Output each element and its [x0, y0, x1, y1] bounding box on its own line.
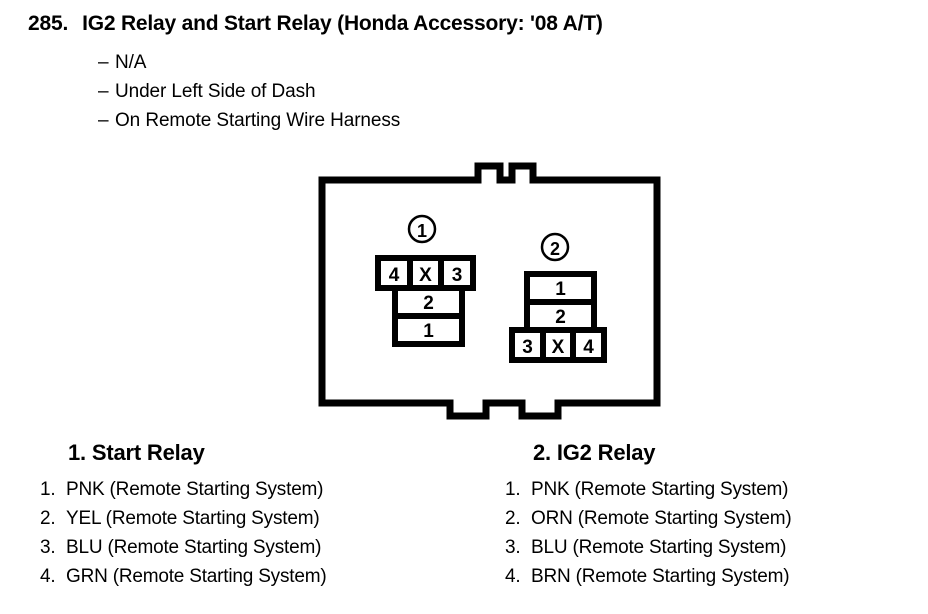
legend-row: 2. YEL (Remote Starting System) [40, 504, 480, 533]
dash-icon: – [98, 81, 115, 103]
relay1-pin-1: 1 [423, 321, 434, 342]
relay1-pin-x: X [419, 265, 432, 286]
enclosure-outline [322, 166, 657, 416]
legend-row-value: YEL (Remote Starting System) [66, 504, 319, 533]
dash-icon: – [98, 52, 115, 74]
legend-row: 3. BLU (Remote Starting System) [505, 533, 925, 562]
relay2-pin-1: 1 [555, 279, 566, 300]
callout-2-label: 2 [550, 239, 560, 259]
legend-row-value: BLU (Remote Starting System) [531, 533, 786, 562]
detail-line: –N/A [98, 52, 146, 74]
detail-text: On Remote Starting Wire Harness [115, 110, 400, 131]
legend-row-value: PNK (Remote Starting System) [66, 475, 323, 504]
relay1-pin-4: 4 [389, 265, 400, 286]
relay2-pin-x: X [552, 337, 565, 358]
legend-row-index: 2. [40, 504, 66, 533]
relay-2-connector: 2 1 2 3 X 4 [512, 234, 604, 360]
legend-row: 4. GRN (Remote Starting System) [40, 562, 480, 591]
legend-row: 4. BRN (Remote Starting System) [505, 562, 925, 591]
legend-row-index: 1. [505, 475, 531, 504]
legend-row-index: 4. [40, 562, 66, 591]
legend-row: 1. PNK (Remote Starting System) [505, 475, 925, 504]
legend-heading: 2. IG2 Relay [505, 440, 925, 466]
legend-row-value: ORN (Remote Starting System) [531, 504, 791, 533]
detail-line: –Under Left Side of Dash [98, 81, 316, 103]
legend-ig2-relay: 2. IG2 Relay 1. PNK (Remote Starting Sys… [505, 440, 925, 591]
detail-line: –On Remote Starting Wire Harness [98, 110, 400, 132]
legend-row-index: 3. [40, 533, 66, 562]
relay-location-diagram: 1 4 X 3 2 1 2 1 2 [300, 148, 680, 423]
relay-1-connector: 1 4 X 3 2 1 [378, 216, 473, 344]
relay2-pin-4: 4 [583, 337, 594, 358]
legend-row-value: GRN (Remote Starting System) [66, 562, 326, 591]
callout-1-label: 1 [417, 221, 427, 241]
legend-row-value: BLU (Remote Starting System) [66, 533, 321, 562]
relay2-pin-3: 3 [522, 337, 533, 358]
legend-row-index: 3. [505, 533, 531, 562]
legend-row-value: BRN (Remote Starting System) [531, 562, 789, 591]
page-title: 285.IG2 Relay and Start Relay (Honda Acc… [28, 12, 603, 36]
relay1-pin-3: 3 [452, 265, 463, 286]
item-title: IG2 Relay and Start Relay (Honda Accesso… [82, 12, 603, 35]
relay1-pin-2: 2 [423, 293, 434, 314]
relay2-pin-2: 2 [555, 307, 566, 328]
item-number: 285. [28, 12, 68, 35]
legend-heading: 1. Start Relay [40, 440, 480, 466]
legend-row-index: 4. [505, 562, 531, 591]
dash-icon: – [98, 110, 115, 132]
legend-row-index: 2. [505, 504, 531, 533]
legend-row-index: 1. [40, 475, 66, 504]
detail-text: N/A [115, 52, 146, 73]
detail-text: Under Left Side of Dash [115, 81, 316, 102]
legend-row: 2. ORN (Remote Starting System) [505, 504, 925, 533]
legend-row: 1. PNK (Remote Starting System) [40, 475, 480, 504]
legend-row: 3. BLU (Remote Starting System) [40, 533, 480, 562]
legend-start-relay: 1. Start Relay 1. PNK (Remote Starting S… [40, 440, 480, 591]
legend-row-value: PNK (Remote Starting System) [531, 475, 788, 504]
